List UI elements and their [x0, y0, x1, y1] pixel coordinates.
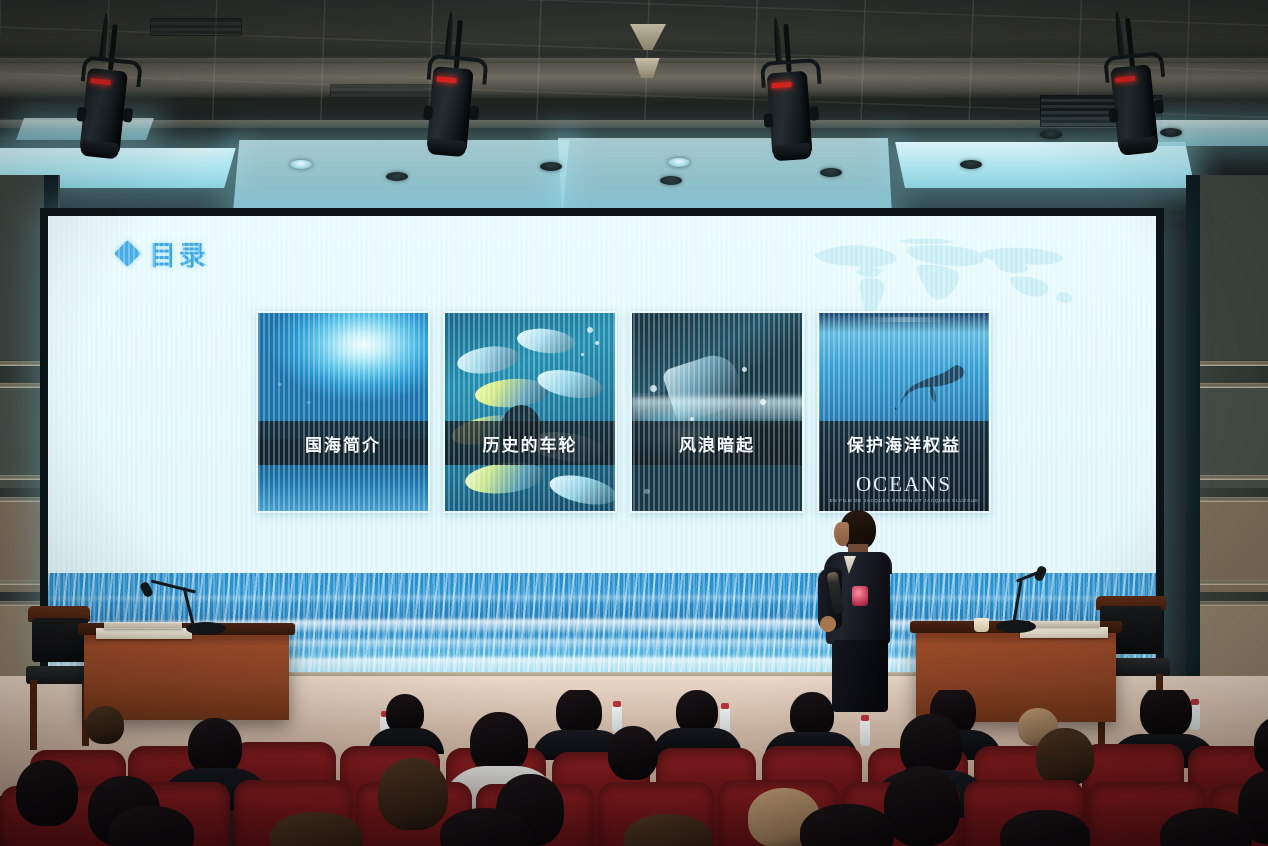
recessed-downlight [386, 172, 408, 181]
fixture-knob [1154, 99, 1164, 114]
contents-card[interactable]: 保护海洋权益 OCEANS EN FILM DE JACQUES PERRIN … [817, 311, 991, 513]
documents [104, 622, 182, 629]
oceans-tagline: EN FILM DE JACQUES PERRIN ET JACQUES CLU… [830, 498, 979, 503]
recessed-downlight [660, 176, 682, 185]
documents [1030, 621, 1100, 627]
fixture-lens [1119, 136, 1158, 156]
fixture-cable [445, 11, 455, 57]
card-artwork-sunlit-ocean [258, 313, 428, 511]
recessed-downlight [960, 160, 982, 169]
audience-head [1140, 690, 1192, 738]
flower-corsage-icon [852, 586, 868, 606]
presenter-hand [820, 616, 836, 632]
recessed-downlight [668, 158, 690, 167]
right-wall [1186, 175, 1268, 695]
audience-head [608, 726, 658, 780]
documents [96, 628, 192, 639]
slide-title: 目录 [118, 234, 209, 273]
contents-card[interactable]: 风浪暗起 [630, 311, 804, 513]
contents-card[interactable]: 国海简介 [256, 311, 430, 513]
fixture-knob [469, 106, 479, 121]
contents-card-row: 国海简介 历史 [256, 311, 991, 513]
fixture-knob [1108, 108, 1118, 123]
fixture-lens [427, 138, 466, 157]
audience-head [16, 760, 78, 826]
fixture-cable [99, 13, 110, 59]
fixture-lens [773, 143, 812, 162]
audience-head [470, 712, 528, 774]
whale-silhouette-icon [895, 359, 969, 413]
microphone-base [996, 620, 1036, 633]
page-title: 目录 [149, 234, 209, 273]
presenter [810, 510, 910, 710]
oceans-poster-wordmark: OCEANS EN FILM DE JACQUES PERRIN ET JACQ… [819, 465, 989, 511]
recessed-downlight [540, 162, 562, 171]
fixture-knob [764, 113, 774, 128]
auditorium-scene: 目录 国海简介 [0, 0, 1268, 846]
ceiling [0, 0, 1268, 215]
audience [0, 690, 1268, 846]
stage-light-fixture [755, 14, 825, 168]
recessed-downlight [820, 168, 842, 177]
diamond-bullet-icon [114, 240, 141, 267]
paper-cup [974, 618, 989, 632]
fixture-knob [123, 108, 133, 123]
audience-head [86, 706, 124, 744]
card-label: 历史的车轮 [483, 431, 578, 456]
fixture-knob [76, 107, 86, 122]
contents-card[interactable]: 历史的车轮 [443, 311, 617, 513]
fixture-knob [423, 105, 433, 120]
card-label: 风浪暗起 [679, 431, 755, 456]
ceiling-beam-upper [0, 58, 1268, 63]
audience-head [1036, 728, 1094, 786]
card-label-band: 国海简介 [258, 421, 428, 465]
audience-head [378, 758, 448, 830]
recessed-downlight [290, 160, 312, 169]
audience-head [884, 766, 960, 846]
card-label: 国海简介 [305, 431, 381, 456]
card-label-band: 历史的车轮 [445, 421, 615, 465]
oceans-title-text: OCEANS [856, 474, 952, 495]
recessed-downlight [1040, 130, 1062, 139]
air-vent-2 [150, 18, 242, 36]
ceiling-light-panel [558, 138, 892, 216]
card-label-band: 风浪暗起 [632, 421, 802, 465]
card-label: 保护海洋权益 [847, 431, 961, 456]
fixture-knob [809, 106, 819, 121]
presenter-face [834, 522, 849, 546]
water-bottle [860, 720, 870, 746]
presentation-screen[interactable]: 目录 国海简介 [48, 215, 1156, 675]
fixture-lens [80, 140, 119, 160]
card-artwork-ship-bow [632, 313, 802, 511]
fixture-cable [773, 17, 782, 63]
card-label-band: 保护海洋权益 [819, 421, 989, 465]
fixture-cable [1114, 11, 1125, 57]
card-artwork-tropical-fish [445, 313, 615, 511]
